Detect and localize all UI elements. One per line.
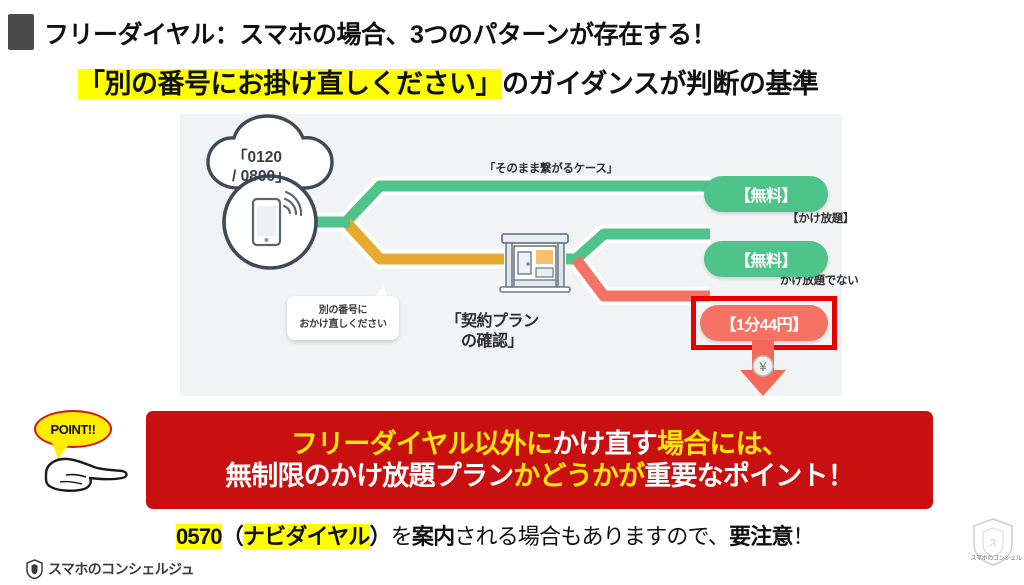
subtitle-rest: のガイダンスが判断の基準 xyxy=(502,69,818,99)
page-subtitle: 「別の番号にお掛け直しください」のガイダンスが判断の基準 xyxy=(78,62,1018,101)
point-callout-group: POINT!! xyxy=(28,410,138,494)
subtitle-highlight: 「別の番号にお掛け直しください」 xyxy=(78,69,502,99)
note-paren-open: （ xyxy=(222,524,243,549)
point-bubble: POINT!! xyxy=(34,410,112,448)
page-title: フリーダイヤル：スマホの場合、3つのパターンが存在する！ xyxy=(44,15,1004,51)
yen-down-arrow-icon: ¥ xyxy=(736,340,790,398)
cloud-number-label: 「0120 / 0800」 xyxy=(232,148,324,186)
badge-free-unlimited: 【無料】 xyxy=(704,241,828,277)
redial-speech-bubble: 別の番号に おかけ直しください xyxy=(287,296,399,340)
note-number: 0570 xyxy=(176,524,222,549)
note-excl: ！ xyxy=(793,524,814,549)
note-mid-a: を xyxy=(391,524,412,549)
note-mid-c: される場合もありますので、 xyxy=(454,524,729,549)
badge-free-direct: 【無料】 xyxy=(704,176,828,212)
slide-header: フリーダイヤル：スマホの場合、3つのパターンが存在する！ 「別の番号にお掛け直し… xyxy=(0,0,1024,110)
branch-label-direct: 「そのまま繋がるケース」 xyxy=(484,160,618,176)
brand-logo-text: スマホのコンシェルジュ xyxy=(48,559,194,579)
title-marker-bar xyxy=(8,14,34,50)
shield-logo-icon xyxy=(26,559,43,579)
contract-plan-label: 「契約プラン の確認」 xyxy=(432,312,552,352)
note-paren-close: ） xyxy=(370,524,391,549)
svg-text:¥: ¥ xyxy=(758,359,767,374)
brand-logo: スマホのコンシェルジュ xyxy=(26,558,194,580)
pointing-hand-icon xyxy=(36,450,132,494)
key-point-banner: フリーダイヤル以外にかけ直す場合には、 無制限のかけ放題プランかどうかが重要なポ… xyxy=(146,411,933,509)
phone-circle xyxy=(224,176,316,268)
svg-text:ス: ス xyxy=(988,538,997,548)
note-mid-b: 案内 xyxy=(412,524,454,549)
banner-line-2: 無制限のかけ放題プランかどうかが重要なポイント！ xyxy=(225,460,854,492)
point-bubble-text: POINT!! xyxy=(51,422,96,437)
note-navi-dial: ナビダイヤル xyxy=(243,524,370,549)
redial-bubble-text: 別の番号に おかけ直しください xyxy=(299,304,386,332)
branch-label-unlimited: 【かけ放題】 xyxy=(787,210,854,226)
banner-line-1: フリーダイヤル以外にかけ直す場合には、 xyxy=(291,428,788,460)
watermark-text: スマホのコンシェル xyxy=(968,553,1024,562)
storefront-icon xyxy=(500,234,570,292)
bottom-note: 0570（ナビダイヤル）を案内される場合もありますので、要注意！ xyxy=(176,519,976,551)
note-emphasis: 要注意 xyxy=(729,524,793,549)
